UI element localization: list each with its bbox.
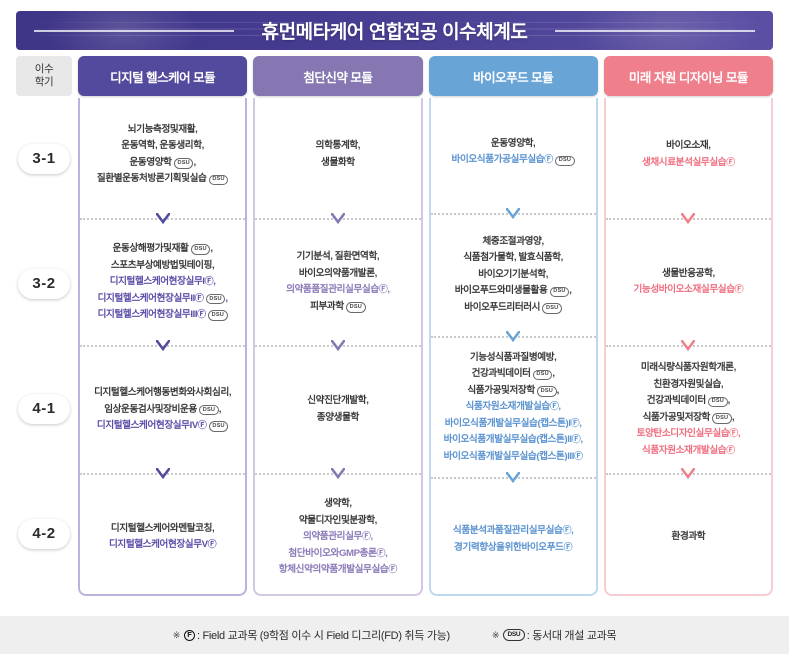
module-column-1: 디지털 헬스케어 모듈뇌기능측정및재활,운동역학, 운동생리학,운동영양학 DS…	[78, 56, 247, 596]
module-track-4: 바이오소재,생채시료분석실무실습Ⓕ생물반응공학,기능성바이오소재실무실습Ⓕ미래식…	[604, 98, 773, 596]
course-item: 디지털헬스케어행동변화와사회심리,	[94, 385, 231, 402]
course-name: 기능성바이오소재실무실습	[634, 284, 735, 295]
chevron-down-icon	[681, 468, 695, 480]
course-name: 식품첨가물학, 발효식품학,	[463, 252, 563, 263]
course-list: 디지털헬스케어행동변화와사회심리,임상운동검사및장비운용 DSU,디지털헬스케어…	[80, 353, 245, 467]
course-item: 체중조절과영양,	[455, 234, 572, 251]
course-cell: 디지털헬스케어행동변화와사회심리,임상운동검사및장비운용 DSU,디지털헬스케어…	[80, 353, 245, 467]
field-degree-icon: Ⓕ	[574, 451, 583, 461]
course-item: 경기력향상을위한바이오푸드Ⓕ	[453, 540, 573, 557]
course-cell: 생물반응공학,기능성바이오소재실무실습Ⓕ	[606, 226, 771, 340]
comma-separator: ,	[210, 243, 212, 254]
chevron-down-icon	[331, 213, 345, 225]
course-list-text: 기능성식품과질병예방,건강과빅데이터 DSU,식품가공및저장학 DSU,식품자원…	[444, 350, 583, 466]
course-item: 식품가공및저장학 DSU,	[637, 410, 741, 427]
course-name: 바이오소재,	[666, 140, 710, 151]
course-item: 바이오식품개발실무실습(캡스톤)IIIⒻ	[444, 449, 583, 466]
dsu-tag-icon: DSU	[174, 158, 194, 169]
course-item: 바이오식품개발실무실습(캡스톤)IⒻ,	[444, 416, 583, 433]
course-name: 항체신약의약품개발실무실습	[279, 564, 389, 575]
chevron-down-icon	[506, 472, 520, 484]
course-list-text: 환경과학	[672, 529, 706, 546]
field-degree-icon: Ⓕ	[388, 564, 397, 574]
course-cell: 체중조절과영양,식품첨가물학, 발효식품학,바이오기기분석학,바이오푸드와미생물…	[431, 221, 596, 330]
comma-separator: ,	[569, 285, 571, 296]
course-list-text: 기기분석, 질환면역학,바이오의약품개발론,의약품품질관리실무실습Ⓕ,피부과학 …	[286, 249, 390, 315]
field-degree-icon: Ⓕ	[726, 445, 735, 455]
course-item: 환경과학	[672, 529, 706, 546]
course-item: 디지털헬스케어현장실무VⒻ	[109, 537, 216, 554]
chevron-down-icon	[506, 208, 520, 220]
course-cell: 바이오소재,생채시료분석실무실습Ⓕ	[606, 98, 771, 212]
course-item: 식품가공및저장학 DSU,	[444, 383, 583, 400]
chevron-down-icon	[506, 331, 520, 343]
module-column-2: 첨단신약 모듈의학통계학,생물화학기기분석, 질환면역학,바이오의약품개발론,의…	[253, 56, 422, 596]
course-item: 디지털헬스케어와멘탈코칭,	[109, 521, 216, 538]
course-item: 바이오소재,	[642, 138, 735, 155]
course-list-text: 식품분석과품질관리실무실습Ⓕ,경기력향상을위한바이오푸드Ⓕ	[453, 523, 573, 556]
dsu-tag-icon: DSU	[208, 310, 228, 321]
field-degree-icon: Ⓕ	[564, 542, 573, 552]
row-separator	[606, 212, 771, 226]
course-item: 운동영양학 DSU,	[97, 155, 228, 172]
course-list-text: 운동상해평가및재활 DSU,스포츠부상예방법및테이핑,디지털헬스케어현장실무IⒻ…	[98, 241, 228, 324]
course-name: 의약품품질관리실무실습	[286, 284, 379, 295]
chevron-down-icon	[506, 331, 520, 343]
course-name: 생물반응공학,	[662, 268, 715, 279]
row-separator	[255, 339, 420, 353]
course-list: 체중조절과영양,식품첨가물학, 발효식품학,바이오기기분석학,바이오푸드와미생물…	[431, 221, 596, 330]
course-cell: 식품분석과품질관리실무실습Ⓕ,경기력향상을위한바이오푸드Ⓕ	[431, 485, 596, 594]
course-name: 생채시료분석실무실습	[642, 157, 726, 168]
chevron-down-icon	[681, 340, 695, 352]
course-item: 생물반응공학,	[634, 266, 744, 283]
course-cell: 환경과학	[606, 481, 771, 595]
course-item: 뇌기능측정및재활,	[97, 122, 228, 139]
field-degree-icon: Ⓕ	[198, 420, 207, 430]
chevron-down-icon	[681, 468, 695, 480]
field-degree-icon: Ⓕ	[362, 531, 371, 541]
semester-header-line1: 이수	[35, 63, 54, 76]
module-header-4[interactable]: 미래 자원 디자이닝 모듈	[604, 56, 773, 96]
comma-separator: ,	[213, 276, 215, 287]
semester-cell: 4-1	[16, 346, 72, 471]
chevron-down-icon	[681, 213, 695, 225]
comma-separator: ,	[371, 531, 373, 542]
course-name: 질환별운동처방론기획및실습	[97, 173, 207, 184]
row-separator	[606, 339, 771, 353]
chevron-down-icon	[156, 340, 170, 352]
course-list-text: 미래식량식품자원학개론,친환경자원및실습,건강과빅데이터 DSU,식품가공및저장…	[637, 360, 741, 459]
dsu-tag-icon: DSU	[503, 629, 525, 642]
course-item: 질환별운동처방론기획및실습 DSU	[97, 171, 228, 188]
course-item: 디지털헬스케어현장실무IVⒻ DSU	[94, 418, 231, 435]
dsu-tag-icon: DSU	[206, 294, 226, 305]
chevron-down-icon	[331, 340, 345, 352]
field-degree-icon	[184, 630, 195, 641]
course-item: 의약품관리실무Ⓕ,	[279, 529, 397, 546]
course-name: 디지털헬스케어현장실무I	[110, 276, 205, 287]
field-degree-icon: Ⓕ	[376, 548, 385, 558]
course-name: 경기력향상을위한바이오푸드	[454, 542, 564, 553]
course-name: 생약학,	[324, 498, 352, 509]
dsu-tag-icon: DSU	[199, 405, 219, 416]
comma-separator: ,	[579, 418, 581, 429]
comma-separator: ,	[557, 385, 559, 396]
course-list: 식품분석과품질관리실무실습Ⓕ,경기력향상을위한바이오푸드Ⓕ	[431, 485, 596, 594]
field-degree-icon: Ⓕ	[735, 284, 744, 294]
course-name: 체중조절과영양,	[483, 236, 544, 247]
course-name: 식품가공및저장학	[643, 412, 710, 423]
chevron-down-icon	[681, 340, 695, 352]
course-item: 디지털헬스케어현장실무IIⒻ DSU,	[98, 291, 228, 308]
field-degree-icon: Ⓕ	[544, 154, 553, 164]
course-list-text: 운동영양학,바이오식품가공실무실습Ⓕ DSU	[452, 136, 575, 169]
course-name: 운동영양학,	[491, 138, 535, 149]
course-name: 식품자원소재개발실습	[642, 445, 726, 456]
page-title: 휴먼메타케어 연합전공 이수체계도	[16, 11, 773, 50]
course-name: 디지털헬스케어행동변화와사회심리,	[94, 387, 231, 398]
legend-field-course-text: : Field 교과목 (9학점 이수 시 Field 디그리(FD) 취득 가…	[197, 627, 450, 643]
course-list: 기기분석, 질환면역학,바이오의약품개발론,의약품품질관리실무실습Ⓕ,피부과학 …	[255, 226, 420, 340]
course-item: 식품자원소재개발실습Ⓕ,	[444, 399, 583, 416]
course-name: 친환경자원및실습,	[654, 379, 724, 390]
course-name: 디지털헬스케어현장실무III	[98, 309, 198, 320]
chevron-down-icon	[331, 468, 345, 480]
course-name: 디지털헬스케어현장실무II	[98, 293, 195, 304]
course-cell: 신약진단개발학,종양생물학	[255, 353, 420, 467]
course-item: 신약진단개발학,	[307, 393, 368, 410]
course-item: 기기분석, 질환면역학,	[286, 249, 390, 266]
course-list: 운동영양학,바이오식품가공실무실습Ⓕ DSU	[431, 98, 596, 207]
module-track-1: 뇌기능측정및재활,운동역학, 운동생리학,운동영양학 DSU,질환별운동처방론기…	[78, 98, 247, 596]
semester-header-line2: 학기	[35, 76, 54, 89]
comma-separator: ,	[580, 434, 582, 445]
semester-column: 이수 학기 3-13-24-14-2	[16, 56, 72, 596]
course-name: 건강과빅데이터	[647, 395, 706, 406]
comma-separator: ,	[385, 548, 387, 559]
course-name: 토양탄소디자인실무실습	[637, 428, 730, 439]
course-name: 임상운동검사및장비운용	[104, 404, 197, 415]
course-name: 약물디자인및분광학,	[299, 515, 377, 526]
course-list: 신약진단개발학,종양생물학	[255, 353, 420, 467]
course-name: 바이오기기분석학,	[478, 269, 548, 280]
semester-label-3-2: 3-2	[18, 269, 70, 299]
chevron-down-icon	[156, 468, 170, 480]
course-list-text: 바이오소재,생채시료분석실무실습Ⓕ	[642, 138, 735, 171]
comma-separator: ,	[558, 401, 560, 412]
curriculum-grid: 이수 학기 3-13-24-14-2 디지털 헬스케어 모듈뇌기능측정및재활,운…	[16, 56, 773, 596]
module-track-2: 의학통계학,생물화학기기분석, 질환면역학,바이오의약품개발론,의약품품질관리실…	[253, 98, 422, 596]
semester-label-3-1: 3-1	[18, 144, 70, 174]
course-cell: 미래식량식품자원학개론,친환경자원및실습,건강과빅데이터 DSU,식품가공및저장…	[606, 353, 771, 467]
row-separator	[80, 467, 245, 481]
comma-separator: ,	[552, 368, 554, 379]
course-name: 디지털헬스케어현장실무IV	[97, 420, 198, 431]
course-item: 식품자원소재개발실습Ⓕ	[637, 443, 741, 460]
row-separator	[80, 212, 245, 226]
course-name: 환경과학	[672, 531, 706, 542]
comma-separator: ,	[571, 525, 573, 536]
course-item: 바이오식품가공실무실습Ⓕ DSU	[452, 152, 575, 169]
course-name: 기능성식품과질병예방,	[470, 352, 557, 363]
asterisk-icon: ※	[492, 630, 499, 641]
course-name: 운동역학, 운동생리학,	[121, 140, 204, 151]
row-separator	[606, 467, 771, 481]
course-item: 바이오푸드와미생물활용 DSU,	[455, 283, 572, 300]
dsu-tag-icon: DSU	[550, 287, 570, 298]
course-item: 미래식량식품자원학개론,	[637, 360, 741, 377]
course-item: 생물화학	[316, 155, 360, 172]
course-list: 바이오소재,생채시료분석실무실습Ⓕ	[606, 98, 771, 212]
course-name: 뇌기능측정및재활,	[128, 124, 198, 135]
course-item: 기능성식품과질병예방,	[444, 350, 583, 367]
course-name: 첨단바이오와GMP총론	[288, 548, 376, 559]
course-item: 첨단바이오와GMP총론Ⓕ,	[279, 546, 397, 563]
course-item: 바이오기기분석학,	[455, 267, 572, 284]
dsu-tag-icon: DSU	[209, 175, 229, 186]
course-list-text: 생물반응공학,기능성바이오소재실무실습Ⓕ	[634, 266, 744, 299]
course-list: 뇌기능측정및재활,운동역학, 운동생리학,운동영양학 DSU,질환별운동처방론기…	[80, 98, 245, 212]
field-degree-icon: Ⓕ	[726, 157, 735, 167]
course-name: 스포츠부상예방법및테이핑,	[111, 260, 214, 271]
row-separator	[431, 207, 596, 221]
course-name: 바이오식품개발실무실습(캡스톤)III	[444, 451, 574, 462]
course-list: 의학통계학,생물화학	[255, 98, 420, 212]
course-list: 생약학,약물디자인및분광학,의약품관리실무Ⓕ,첨단바이오와GMP총론Ⓕ,항체신약…	[255, 481, 420, 595]
course-item: 임상운동검사및장비운용 DSU,	[94, 402, 231, 419]
legend-field-course: ※ : Field 교과목 (9학점 이수 시 Field 디그리(FD) 취득…	[173, 627, 450, 643]
course-item: 친환경자원및실습,	[637, 377, 741, 394]
row-separator	[431, 330, 596, 344]
course-item: 약물디자인및분광학,	[279, 513, 397, 530]
course-cell: 생약학,약물디자인및분광학,의약품관리실무Ⓕ,첨단바이오와GMP총론Ⓕ,항체신약…	[255, 481, 420, 595]
field-degree-icon: Ⓕ	[197, 309, 206, 319]
course-name: 바이오푸드와미생물활용	[455, 285, 548, 296]
legend-dsu-course-text: : 동서대 개설 교과목	[527, 627, 617, 643]
course-list: 생물반응공학,기능성바이오소재실무실습Ⓕ	[606, 226, 771, 340]
course-item: 기능성바이오소재실무실습Ⓕ	[634, 282, 744, 299]
comma-separator: ,	[738, 428, 740, 439]
field-degree-icon: Ⓕ	[208, 539, 217, 549]
dsu-tag-icon: DSU	[533, 370, 553, 381]
course-item: 바이오푸드리터러시 DSU	[455, 300, 572, 317]
course-name: 건강과빅데이터	[472, 368, 531, 379]
semester-labels: 3-13-24-14-2	[16, 96, 72, 596]
course-cell: 의학통계학,생물화학	[255, 98, 420, 212]
field-degree-icon: Ⓕ	[571, 418, 580, 428]
course-list: 디지털헬스케어와멘탈코칭,디지털헬스케어현장실무VⒻ	[80, 481, 245, 595]
field-degree-icon: Ⓕ	[562, 525, 571, 535]
comma-separator: ,	[193, 157, 195, 168]
semester-cell: 4-2	[16, 471, 72, 596]
semester-column-header: 이수 학기	[16, 56, 72, 96]
course-list-text: 신약진단개발학,종양생물학	[307, 393, 368, 426]
dsu-tag-icon: DSU	[555, 156, 575, 167]
row-separator	[255, 467, 420, 481]
dsu-tag-icon: DSU	[191, 244, 211, 255]
course-item: 운동역학, 운동생리학,	[97, 138, 228, 155]
course-item: 디지털헬스케어현장실무IIIⒻ DSU	[98, 307, 228, 324]
course-name: 의학통계학,	[316, 140, 360, 151]
legend-dsu-course: ※ DSU : 동서대 개설 교과목	[492, 627, 616, 643]
curriculum-diagram: 휴먼메타케어 연합전공 이수체계도 이수 학기 3-13-24-14-2 디지털…	[0, 0, 789, 654]
course-name: 바이오식품개발실무실습(캡스톤)I	[445, 418, 571, 429]
course-name: 의약품관리실무	[303, 531, 362, 542]
semester-label-4-1: 4-1	[18, 394, 70, 424]
course-list-text: 뇌기능측정및재활,운동역학, 운동생리학,운동영양학 DSU,질환별운동처방론기…	[97, 122, 228, 188]
course-name: 신약진단개발학,	[307, 395, 368, 406]
course-list-text: 의학통계학,생물화학	[316, 138, 360, 171]
chevron-down-icon	[331, 468, 345, 480]
course-item: 건강과빅데이터 DSU,	[444, 366, 583, 383]
course-list-text: 디지털헬스케어와멘탈코칭,디지털헬스케어현장실무VⒻ	[109, 521, 216, 554]
course-name: 바이오식품가공실무실습	[452, 154, 545, 165]
field-degree-icon: Ⓕ	[195, 293, 204, 303]
chevron-down-icon	[156, 213, 170, 225]
module-header-2[interactable]: 첨단신약 모듈	[253, 56, 422, 96]
chevron-down-icon	[331, 213, 345, 225]
course-item: 토양탄소디자인실무실습Ⓕ,	[637, 426, 741, 443]
course-name: 식품자원소재개발실습	[466, 401, 550, 412]
course-item: 운동영양학,	[452, 136, 575, 153]
course-item: 스포츠부상예방법및테이핑,	[98, 258, 228, 275]
course-name: 운동영양학	[129, 157, 171, 168]
row-separator	[431, 471, 596, 485]
course-item: 운동상해평가및재활 DSU,	[98, 241, 228, 258]
course-list: 환경과학	[606, 481, 771, 595]
chevron-down-icon	[506, 472, 520, 484]
course-item: 생약학,	[279, 496, 397, 513]
course-name: 생물화학	[321, 157, 355, 168]
course-name: 바이오의약품개발론,	[299, 268, 377, 279]
comma-separator: ,	[225, 293, 227, 304]
dsu-tag-icon: DSU	[712, 413, 732, 424]
field-degree-icon: Ⓕ	[729, 428, 738, 438]
course-item: 의약품품질관리실무실습Ⓕ,	[286, 282, 390, 299]
course-name: 미래식량식품자원학개론,	[641, 362, 736, 373]
course-item: 바이오식품개발실무실습(캡스톤)IIⒻ,	[444, 432, 583, 449]
chevron-down-icon	[681, 213, 695, 225]
course-item: 피부과학 DSU	[286, 299, 390, 316]
course-name: 종양생물학	[317, 412, 359, 423]
dsu-tag-icon: DSU	[346, 302, 366, 313]
course-list: 운동상해평가및재활 DSU,스포츠부상예방법및테이핑,디지털헬스케어현장실무IⒻ…	[80, 226, 245, 340]
chevron-down-icon	[331, 340, 345, 352]
course-item: 건강과빅데이터 DSU,	[637, 393, 741, 410]
comma-separator: ,	[732, 412, 734, 423]
chevron-down-icon	[156, 213, 170, 225]
course-list: 기능성식품과질병예방,건강과빅데이터 DSU,식품가공및저장학 DSU,식품자원…	[431, 344, 596, 472]
semester-label-4-2: 4-2	[18, 519, 70, 549]
course-item: 생채시료분석실무실습Ⓕ	[642, 155, 735, 172]
course-cell: 운동상해평가및재활 DSU,스포츠부상예방법및테이핑,디지털헬스케어현장실무IⒻ…	[80, 226, 245, 340]
course-item: 의학통계학,	[316, 138, 360, 155]
course-list-text: 생약학,약물디자인및분광학,의약품관리실무Ⓕ,첨단바이오와GMP총론Ⓕ,항체신약…	[279, 496, 397, 579]
course-name: 식품가공및저장학	[467, 385, 534, 396]
module-header-3[interactable]: 바이오푸드 모듈	[429, 56, 598, 96]
course-item: 바이오의약품개발론,	[286, 266, 390, 283]
course-item: 종양생물학	[307, 410, 368, 427]
course-name: 디지털헬스케어현장실무V	[109, 539, 208, 550]
dsu-tag-icon: DSU	[537, 386, 557, 397]
course-cell: 기능성식품과질병예방,건강과빅데이터 DSU,식품가공및저장학 DSU,식품자원…	[431, 344, 596, 472]
course-list: 미래식량식품자원학개론,친환경자원및실습,건강과빅데이터 DSU,식품가공및저장…	[606, 353, 771, 467]
course-name: 피부과학	[310, 301, 344, 312]
semester-cell: 3-2	[16, 221, 72, 346]
row-separator	[80, 339, 245, 353]
course-item: 식품첨가물학, 발효식품학,	[455, 250, 572, 267]
legend-footer: ※ : Field 교과목 (9학점 이수 시 Field 디그리(FD) 취득…	[0, 616, 789, 654]
module-header-1[interactable]: 디지털 헬스케어 모듈	[78, 56, 247, 96]
chevron-down-icon	[156, 340, 170, 352]
course-list-text: 체중조절과영양,식품첨가물학, 발효식품학,바이오기기분석학,바이오푸드와미생물…	[455, 234, 572, 317]
course-cell: 운동영양학,바이오식품가공실무실습Ⓕ DSU	[431, 98, 596, 207]
course-item: 디지털헬스케어현장실무IⒻ,	[98, 274, 228, 291]
course-item: 항체신약의약품개발실무실습Ⓕ	[279, 562, 397, 579]
semester-cell: 3-1	[16, 96, 72, 221]
course-item: 식품분석과품질관리실무실습Ⓕ,	[453, 523, 573, 540]
field-degree-icon: Ⓕ	[205, 276, 214, 286]
course-name: 디지털헬스케어와멘탈코칭,	[111, 523, 214, 534]
course-cell: 디지털헬스케어와멘탈코칭,디지털헬스케어현장실무VⒻ	[80, 481, 245, 595]
course-name: 바이오식품개발실무실습(캡스톤)II	[444, 434, 572, 445]
course-name: 기기분석, 질환면역학,	[297, 251, 380, 262]
dsu-tag-icon: DSU	[708, 397, 728, 408]
row-separator	[255, 212, 420, 226]
chevron-down-icon	[156, 468, 170, 480]
course-name: 운동상해평가및재활	[113, 243, 189, 254]
module-column-3: 바이오푸드 모듈운동영양학,바이오식품가공실무실습Ⓕ DSU체중조절과영양,식품…	[429, 56, 598, 596]
course-name: 식품분석과품질관리실무실습	[453, 525, 563, 536]
comma-separator: ,	[728, 395, 730, 406]
module-track-3: 운동영양학,바이오식품가공실무실습Ⓕ DSU체중조절과영양,식품첨가물학, 발효…	[429, 98, 598, 596]
comma-separator: ,	[219, 404, 221, 415]
title-banner: 휴먼메타케어 연합전공 이수체계도	[16, 11, 773, 50]
course-name: 바이오푸드리터러시	[464, 302, 540, 313]
asterisk-icon: ※	[173, 630, 180, 641]
dsu-tag-icon: DSU	[542, 303, 562, 314]
course-cell: 기기분석, 질환면역학,바이오의약품개발론,의약품품질관리실무실습Ⓕ,피부과학 …	[255, 226, 420, 340]
course-cell: 뇌기능측정및재활,운동역학, 운동생리학,운동영양학 DSU,질환별운동처방론기…	[80, 98, 245, 212]
comma-separator: ,	[387, 284, 389, 295]
chevron-down-icon	[506, 208, 520, 220]
course-list-text: 디지털헬스케어행동변화와사회심리,임상운동검사및장비운용 DSU,디지털헬스케어…	[94, 385, 231, 435]
dsu-tag-icon: DSU	[209, 421, 229, 432]
module-column-4: 미래 자원 디자이닝 모듈바이오소재,생채시료분석실무실습Ⓕ생물반응공학,기능성…	[604, 56, 773, 596]
